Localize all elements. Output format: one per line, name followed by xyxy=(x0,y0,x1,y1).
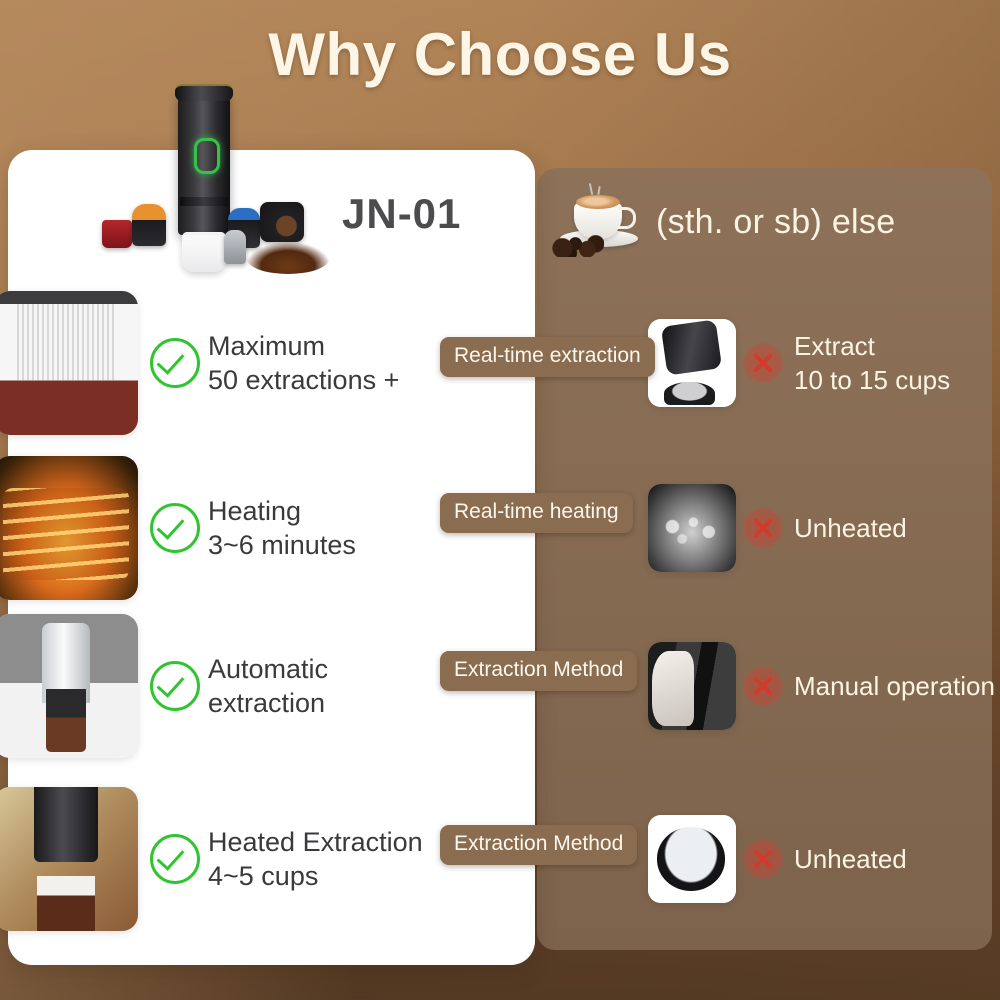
right-row-1: Extract 10 to 15 cups xyxy=(648,288,1000,438)
row-thumbnail xyxy=(0,291,138,435)
row-line-2: extraction xyxy=(208,686,328,720)
coffee-pod-icon xyxy=(260,202,304,242)
row-line-2: 10 to 15 cups xyxy=(794,363,950,397)
row-text: Unheated xyxy=(794,842,907,876)
row-text: Manual operation xyxy=(794,669,995,703)
row-line-1: Heated Extraction xyxy=(208,825,423,859)
row-line-2: 3~6 minutes xyxy=(208,528,356,562)
right-column-label: (sth. or sb) else xyxy=(656,203,895,242)
check-icon xyxy=(150,503,200,553)
right-row-3: Manual operation xyxy=(648,611,1000,761)
coffee-cup-icon xyxy=(552,187,648,257)
cup-handle-icon xyxy=(618,207,636,229)
row-text: Maximum 50 extractions + xyxy=(208,329,399,397)
pill-label-1: Real-time extraction xyxy=(440,337,655,377)
row-line-2: 4~5 cups xyxy=(208,859,423,893)
row-line-1: Extract xyxy=(794,329,950,363)
row-text: Heated Extraction 4~5 cups xyxy=(208,825,423,893)
row-line-1: Unheated xyxy=(794,511,907,545)
model-label: JN-01 xyxy=(342,190,461,238)
check-icon xyxy=(150,661,200,711)
cross-icon xyxy=(742,838,784,880)
machine-spout-icon xyxy=(182,232,226,272)
row-line-1: Automatic xyxy=(208,652,328,686)
coffee-grounds-icon xyxy=(246,242,330,274)
coffee-pod-icon xyxy=(224,230,246,264)
cross-icon xyxy=(742,665,784,707)
row-thumbnail xyxy=(0,614,138,758)
check-icon xyxy=(150,834,200,884)
row-line-1: Manual operation xyxy=(794,669,995,703)
right-row-2: Unheated xyxy=(648,453,1000,603)
row-thumbnail xyxy=(648,815,736,903)
steam-icon xyxy=(597,186,601,195)
coffee-beans-icon xyxy=(552,235,604,257)
poster-root: Why Choose Us JN-01 (sth. or sb) else xyxy=(0,0,1000,1000)
row-thumbnail xyxy=(648,642,736,730)
row-line-1: Maximum xyxy=(208,329,399,363)
row-line-1: Unheated xyxy=(794,842,907,876)
page-title: Why Choose Us xyxy=(0,22,1000,88)
row-text: Unheated xyxy=(794,511,907,545)
row-line-2: 50 extractions + xyxy=(208,363,399,397)
pill-label-3: Extraction Method xyxy=(440,651,637,691)
row-thumbnail xyxy=(0,456,138,600)
coffee-pod-icon xyxy=(132,204,166,246)
row-thumbnail xyxy=(0,787,138,931)
cross-icon xyxy=(742,342,784,384)
product-photo xyxy=(60,92,360,277)
row-line-1: Heating xyxy=(208,494,356,528)
right-column-header: (sth. or sb) else xyxy=(552,186,992,258)
right-row-4: Unheated xyxy=(648,784,1000,934)
row-thumbnail xyxy=(648,484,736,572)
row-text: Heating 3~6 minutes xyxy=(208,494,356,562)
pill-label-4: Extraction Method xyxy=(440,825,637,865)
row-text: Automatic extraction xyxy=(208,652,328,720)
pill-label-2: Real-time heating xyxy=(440,493,633,533)
latte-art-icon xyxy=(576,195,620,209)
row-text: Extract 10 to 15 cups xyxy=(794,329,950,397)
cross-icon xyxy=(742,507,784,549)
power-indicator-icon xyxy=(194,138,220,174)
check-icon xyxy=(150,338,200,388)
coffee-pod-icon xyxy=(102,220,132,248)
row-thumbnail xyxy=(648,319,736,407)
